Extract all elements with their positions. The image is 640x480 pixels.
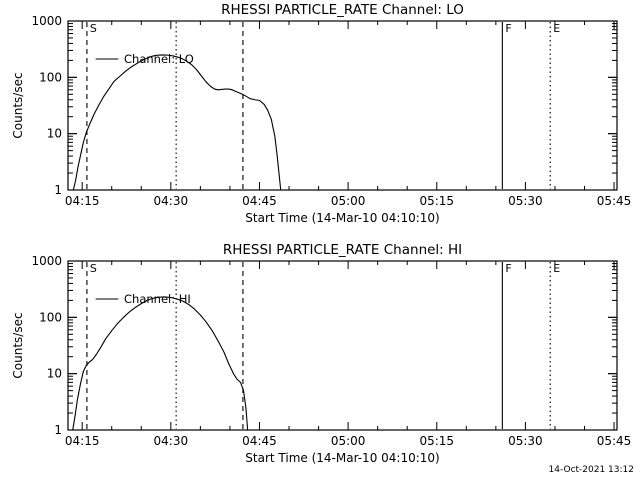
y-tick-label: 10 bbox=[47, 127, 62, 141]
x-axis-label: Start Time (14-Mar-10 04:10:10) bbox=[245, 211, 439, 225]
generated-timestamp: 14-Oct-2021 13:12 bbox=[549, 465, 634, 475]
x-tick-label: 05:30 bbox=[508, 194, 543, 208]
x-tick-label: 04:45 bbox=[242, 194, 277, 208]
x-tick-label: 05:15 bbox=[419, 194, 454, 208]
y-tick-label: 1000 bbox=[31, 254, 62, 268]
x-tick-label: 04:30 bbox=[154, 434, 189, 448]
x-tick-label: 05:00 bbox=[331, 434, 366, 448]
event-marker-label-S: S bbox=[90, 22, 97, 35]
legend-label: Channel: LO bbox=[124, 52, 194, 66]
x-tick-label: 04:15 bbox=[65, 434, 100, 448]
event-marker-label-E: E bbox=[553, 262, 560, 275]
event-marker-label-F: F bbox=[505, 22, 511, 35]
x-tick-label: 05:15 bbox=[419, 434, 454, 448]
y-tick-label: 10 bbox=[47, 367, 62, 381]
plot-frame bbox=[68, 261, 617, 430]
event-marker-label-F: F bbox=[505, 262, 511, 275]
x-tick-label: 05:45 bbox=[597, 194, 632, 208]
event-marker-label-S: S bbox=[90, 262, 97, 275]
y-tick-label: 1 bbox=[54, 423, 62, 437]
legend-label: Channel: HI bbox=[124, 292, 191, 306]
x-tick-label: 04:30 bbox=[154, 194, 189, 208]
y-axis-label: Counts/sec bbox=[11, 72, 25, 138]
x-tick-label: 05:00 bbox=[331, 194, 366, 208]
data-curve bbox=[73, 297, 248, 430]
y-tick-label: 1 bbox=[54, 183, 62, 197]
plot-page: RHESSI PARTICLE_RATE Channel: LO10001001… bbox=[0, 0, 640, 480]
event-marker-label-E: E bbox=[553, 22, 560, 35]
data-curve bbox=[73, 55, 280, 190]
y-tick-label: 100 bbox=[39, 70, 62, 84]
panel-title: RHESSI PARTICLE_RATE Channel: LO bbox=[221, 2, 464, 18]
x-tick-label: 05:45 bbox=[597, 434, 632, 448]
x-tick-label: 04:15 bbox=[65, 194, 100, 208]
plot-frame bbox=[68, 21, 617, 190]
x-tick-label: 05:30 bbox=[508, 434, 543, 448]
y-tick-label: 100 bbox=[39, 310, 62, 324]
x-axis-label: Start Time (14-Mar-10 04:10:10) bbox=[245, 451, 439, 465]
panel-title: RHESSI PARTICLE_RATE Channel: HI bbox=[223, 242, 462, 258]
y-axis-label: Counts/sec bbox=[11, 312, 25, 378]
y-tick-label: 1000 bbox=[31, 14, 62, 28]
x-tick-label: 04:45 bbox=[242, 434, 277, 448]
plot-canvas: RHESSI PARTICLE_RATE Channel: LO10001001… bbox=[0, 0, 640, 480]
